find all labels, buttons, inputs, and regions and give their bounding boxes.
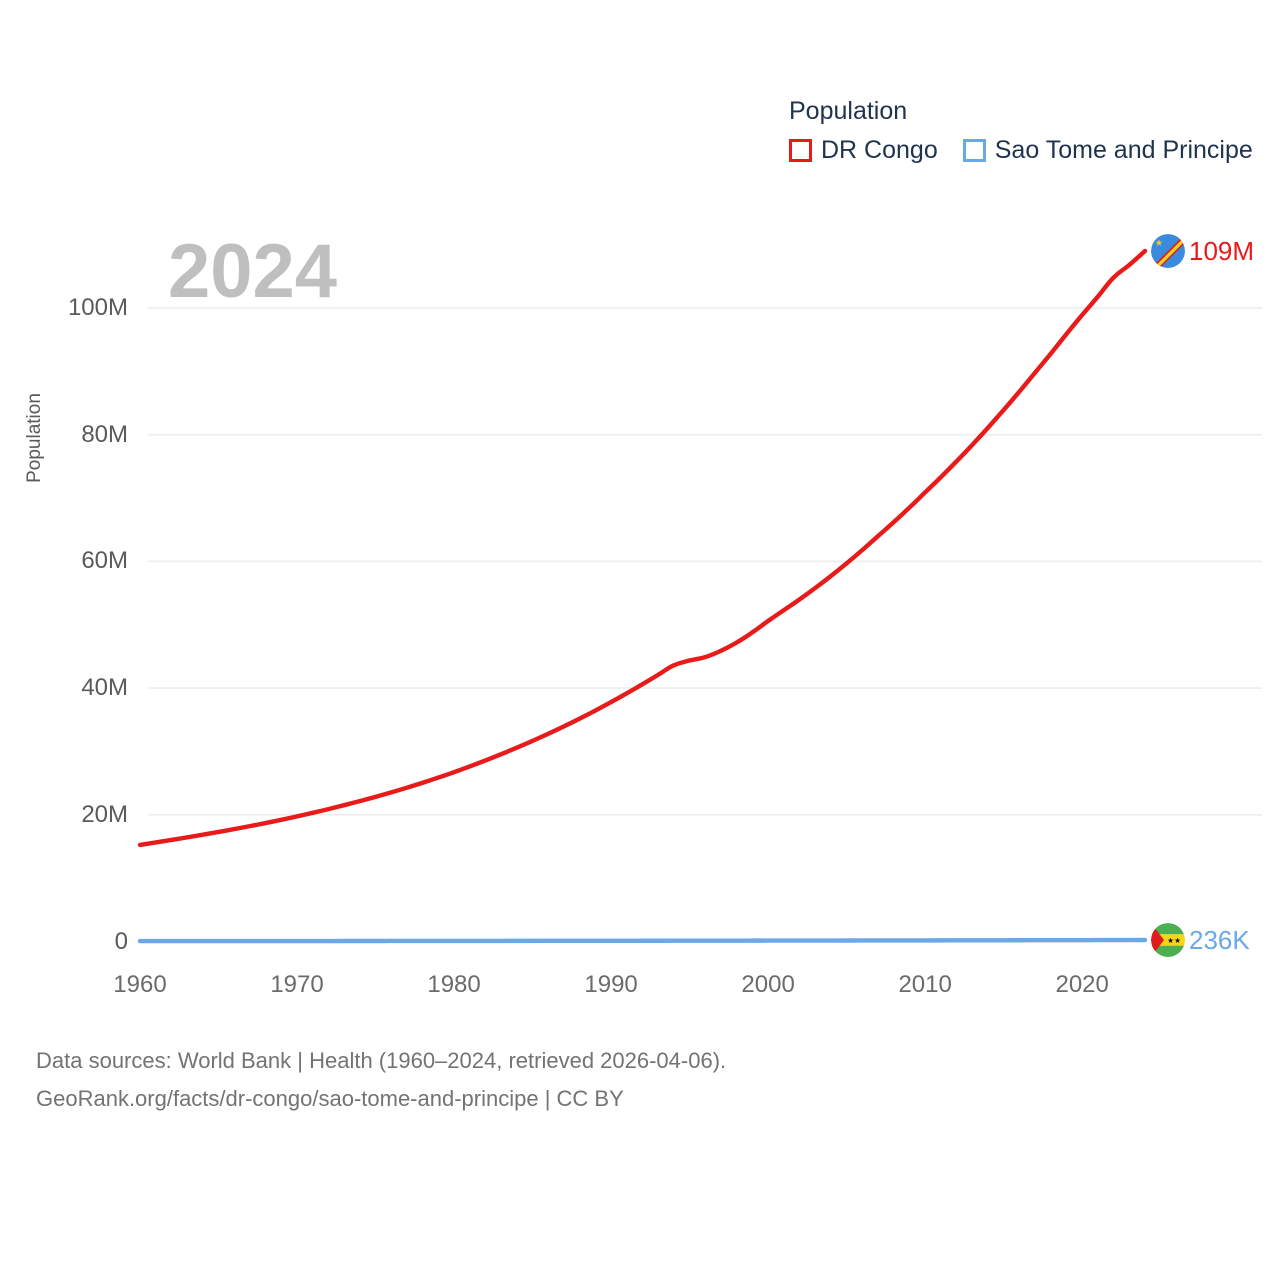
- series-lines: [140, 251, 1145, 941]
- y-tick-label: 100M: [18, 296, 128, 320]
- population-line-chart: 2024 Population 100M80M60M40M20M0 196019…: [0, 0, 1280, 1280]
- legend: Population DR Congo Sao Tome and Princip…: [789, 96, 1259, 164]
- x-tick-label: 2000: [708, 972, 828, 998]
- x-tick-label: 1980: [394, 972, 514, 998]
- y-tick-label: 0: [18, 930, 128, 954]
- legend-swatch-sao-tome-and-principe: [963, 139, 986, 162]
- legend-swatch-dr-congo: [789, 139, 812, 162]
- legend-item-dr-congo[interactable]: DR Congo: [789, 136, 938, 164]
- legend-item-sao-tome-and-principe[interactable]: Sao Tome and Principe: [963, 136, 1253, 164]
- end-value-label-dr-congo: 109M: [1189, 237, 1254, 265]
- footer-data-sources: Data sources: World Bank | Health (1960–…: [36, 1042, 726, 1080]
- y-tick-label: 80M: [18, 423, 128, 447]
- x-tick-label: 1990: [551, 972, 671, 998]
- legend-label-sao-tome-and-principe: Sao Tome and Principe: [995, 136, 1253, 164]
- series-line-sao-tome-and-principe: [140, 940, 1145, 941]
- x-tick-label: 2010: [865, 972, 985, 998]
- year-watermark: 2024: [168, 232, 337, 312]
- y-tick-label: 20M: [18, 803, 128, 827]
- footer-attribution: Data sources: World Bank | Health (1960–…: [36, 1042, 726, 1118]
- legend-title: Population: [789, 96, 1259, 126]
- gridlines: [148, 308, 1262, 815]
- sao-tome-and-principe-flag-icon: [1151, 923, 1185, 957]
- end-value-label-sao-tome-and-principe: 236K: [1189, 926, 1250, 954]
- dr-congo-flag-icon: [1151, 234, 1185, 268]
- y-tick-label: 60M: [18, 549, 128, 573]
- series-line-dr-congo: [140, 251, 1145, 845]
- x-tick-label: 1970: [237, 972, 357, 998]
- x-tick-label: 1960: [80, 972, 200, 998]
- y-tick-label: 40M: [18, 676, 128, 700]
- legend-items: DR Congo Sao Tome and Principe: [789, 136, 1259, 164]
- x-tick-label: 2020: [1022, 972, 1142, 998]
- footer-source-url: GeoRank.org/facts/dr-congo/sao-tome-and-…: [36, 1080, 726, 1118]
- legend-label-dr-congo: DR Congo: [821, 136, 938, 164]
